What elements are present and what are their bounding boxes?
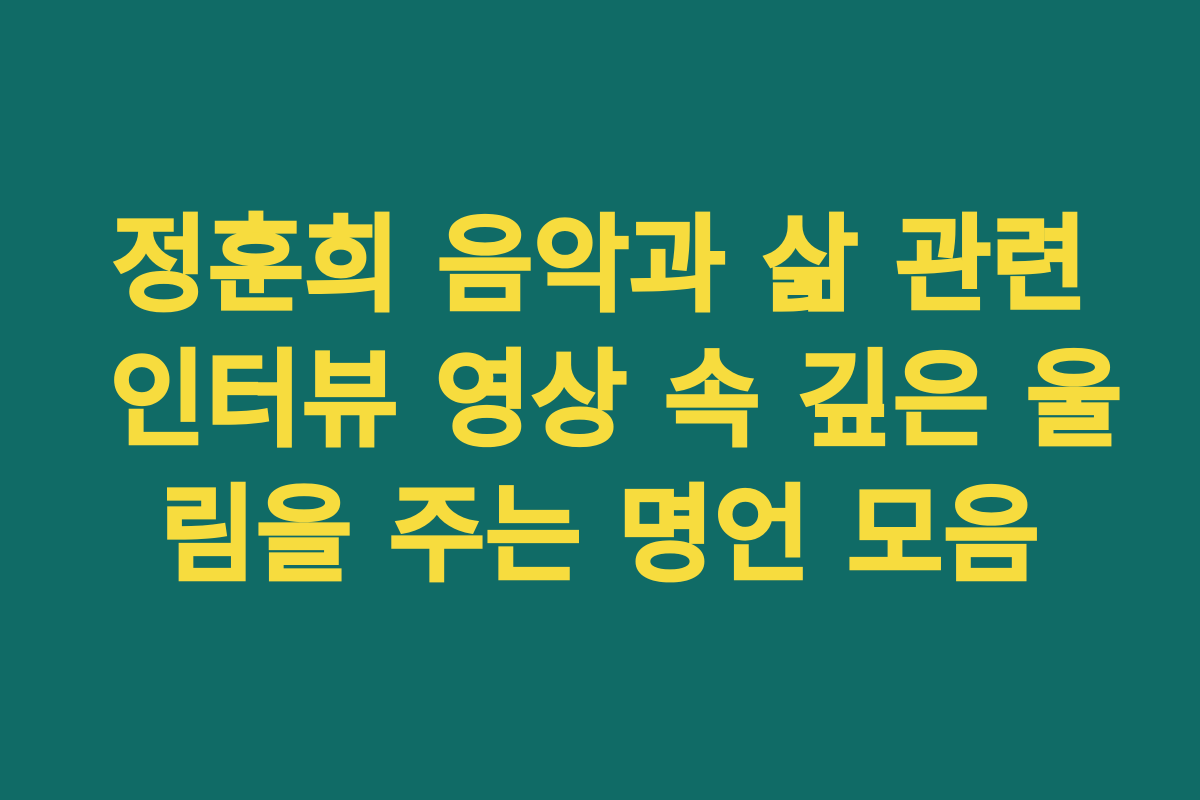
headline-line-1: 정훈희 음악과 삶 관련 (110, 198, 1090, 333)
headline-line-3: 림을 주는 명언 모음 (110, 468, 1090, 603)
headline-line-2: 인터뷰 영상 속 깊은 울 (110, 333, 1090, 468)
poster-canvas: 정훈희 음악과 삶 관련 인터뷰 영상 속 깊은 울 림을 주는 명언 모음 (0, 0, 1200, 800)
page-title: 정훈희 음악과 삶 관련 인터뷰 영상 속 깊은 울 림을 주는 명언 모음 (110, 198, 1090, 603)
